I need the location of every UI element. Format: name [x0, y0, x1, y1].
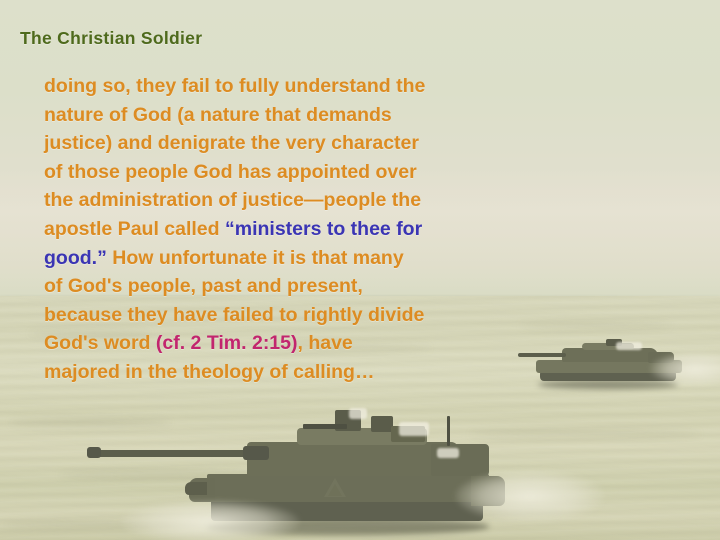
- text-segment-body: of God's people, past and present,: [44, 275, 363, 297]
- body-line: good.” How unfortunate it is that many: [44, 244, 524, 273]
- body-line: justice) and denigrate the very characte…: [44, 129, 524, 158]
- page-title: The Christian Soldier: [20, 28, 202, 49]
- text-segment-body: apostle Paul called: [44, 218, 225, 240]
- tank-loader-hatch: [371, 416, 393, 432]
- tank-antenna: [447, 416, 450, 446]
- text-segment-quote: good.”: [44, 247, 107, 269]
- tank-sun-glare: [349, 408, 367, 419]
- text-segment-body: doing so, they fail to fully understand …: [44, 75, 425, 97]
- tank-sun-glare: [399, 422, 429, 436]
- body-line: doing so, they fail to fully understand …: [44, 72, 524, 101]
- text-segment-body: How unfortunate it is that many: [107, 247, 404, 269]
- text-segment-body: the administration of justice—people the: [44, 189, 421, 211]
- tank-turret: [247, 442, 459, 476]
- body-line: God's word (cf. 2 Tim. 2:15), have: [44, 329, 524, 358]
- body-line: of those people God has appointed over: [44, 158, 524, 187]
- tank-sun-glare: [437, 448, 459, 458]
- slide: The Christian Soldier doing so, they fai…: [0, 0, 720, 540]
- tank-chevron-marking-inner: [328, 484, 342, 496]
- text-segment-body: majored in the theology of calling…: [44, 361, 374, 383]
- tank-machine-gun: [303, 424, 347, 429]
- dust-cloud-foreground: [120, 500, 300, 540]
- body-line: nature of God (a nature that demands: [44, 101, 524, 130]
- tank-shadow: [538, 380, 678, 389]
- text-segment-body: justice) and denigrate the very characte…: [44, 132, 419, 154]
- text-segment-body: nature of God (a nature that demands: [44, 104, 392, 126]
- body-line: majored in the theology of calling…: [44, 358, 524, 387]
- tank-muzzle-tip: [87, 447, 101, 458]
- body-line: apostle Paul called “ministers to thee f…: [44, 215, 524, 244]
- tank-turret: [562, 348, 658, 362]
- tank-gun-barrel: [91, 450, 261, 457]
- body-text-block: doing so, they fail to fully understand …: [44, 72, 524, 387]
- text-segment-ref: (cf. 2 Tim. 2:15): [156, 332, 298, 354]
- dust-cloud-foreground: [455, 470, 605, 522]
- text-segment-body: because they have failed to rightly divi…: [44, 304, 424, 326]
- body-line: of God's people, past and present,: [44, 272, 524, 301]
- body-line: the administration of justice—people the: [44, 186, 524, 215]
- tank-side-skirt: [207, 474, 489, 502]
- sand-blotch: [520, 322, 670, 328]
- text-segment-quote: “ministers to thee for: [225, 218, 422, 240]
- sand-blotch: [10, 418, 170, 427]
- tank-gun-mantlet: [243, 446, 269, 460]
- tank-gun-barrel: [518, 353, 566, 357]
- text-segment-body: of those people God has appointed over: [44, 161, 417, 183]
- text-segment-body: , have: [298, 332, 353, 354]
- text-segment-body: God's word: [44, 332, 156, 354]
- tank-sun-glare: [616, 342, 642, 350]
- tank-front-fender: [185, 482, 207, 495]
- body-line: because they have failed to rightly divi…: [44, 301, 524, 330]
